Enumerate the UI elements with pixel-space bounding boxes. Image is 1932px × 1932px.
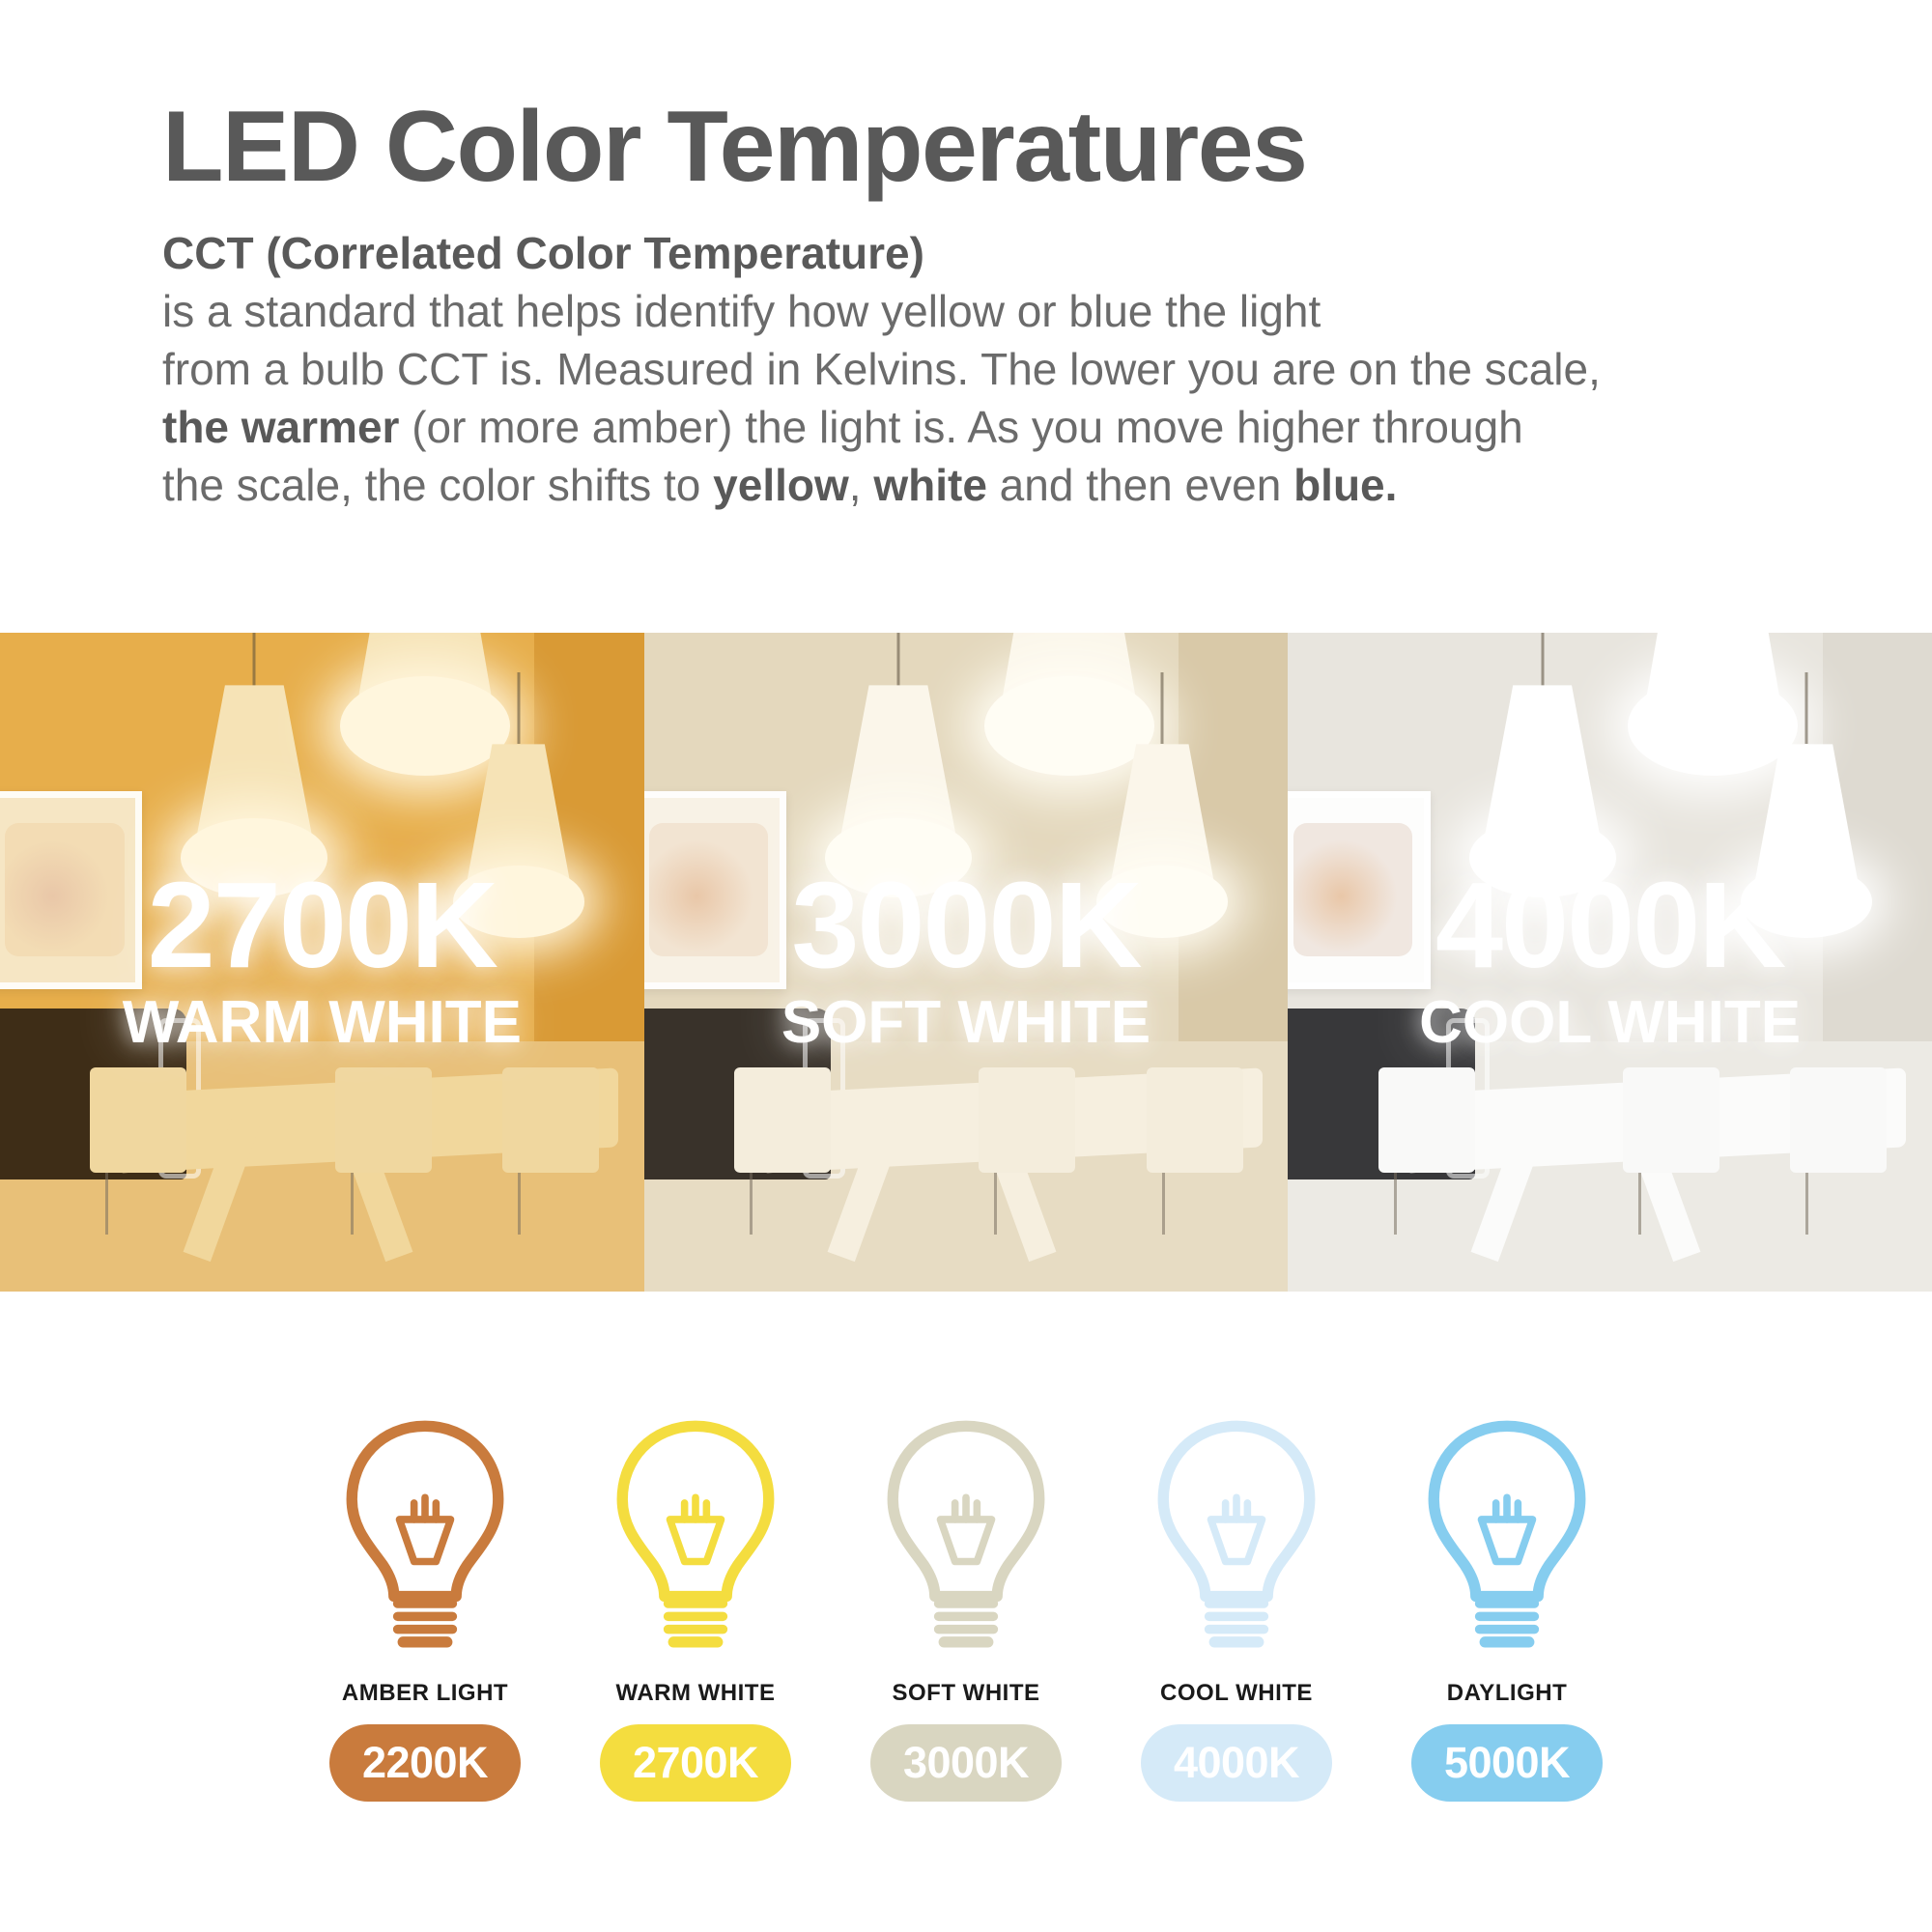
wall-picture-frame	[1288, 791, 1430, 989]
intro-line: is a standard that helps identify how ye…	[162, 282, 1747, 340]
page-title: LED Color Temperatures	[162, 97, 1932, 197]
intro-emphasis: CCT (Correlated Color Temperature)	[162, 228, 924, 278]
framed-photo	[1293, 823, 1412, 955]
kelvin-badge[interactable]: 4000K	[1141, 1724, 1332, 1802]
lamp-glow	[825, 818, 972, 897]
lightbulb-icon	[1415, 1415, 1599, 1657]
room-chair	[734, 1067, 831, 1173]
intro-line: the scale, the color shifts to yellow, w…	[162, 456, 1747, 514]
lamp-glow	[1096, 866, 1228, 937]
pendant-lamp	[1751, 672, 1861, 949]
intro-text: is a standard that helps identify how ye…	[162, 286, 1321, 336]
kelvin-scale-row: AMBER LIGHT 2200K WARM WHITE 2700K SOFT …	[0, 1406, 1932, 1802]
room-chair	[1378, 1067, 1475, 1173]
pendant-lamp	[193, 633, 316, 909]
lamp-cord	[1804, 672, 1807, 744]
pendant-lamp	[1481, 633, 1604, 909]
bulb-label: DAYLIGHT	[1447, 1680, 1567, 1707]
kelvin-badge[interactable]: 2700K	[600, 1724, 791, 1802]
intro-text: ,	[849, 460, 874, 510]
room-chair	[335, 1067, 432, 1173]
intro-text: the scale, the color shifts to	[162, 460, 713, 510]
header-section: LED Color Temperatures CCT (Correlated C…	[0, 0, 1932, 514]
lightbulb-icon	[333, 1415, 517, 1657]
lightbulb-icon	[1145, 1415, 1328, 1657]
scale-item-2700k[interactable]: WARM WHITE 2700K	[560, 1406, 831, 1802]
intro-text: and then even	[987, 460, 1293, 510]
lamp-cord	[1161, 672, 1164, 744]
bulb-label: COOL WHITE	[1160, 1680, 1313, 1707]
scale-item-3000k[interactable]: SOFT WHITE 3000K	[831, 1406, 1101, 1802]
framed-photo	[649, 823, 768, 955]
intro-emphasis: yellow	[713, 460, 849, 510]
bulb-label: AMBER LIGHT	[342, 1680, 508, 1707]
room-chair	[979, 1067, 1075, 1173]
bulb-icon-wrap	[333, 1406, 517, 1666]
lamp-glow	[453, 866, 584, 937]
wall-picture-frame	[0, 791, 142, 989]
room-chair	[1147, 1067, 1243, 1173]
intro-emphasis: the warmer	[162, 402, 399, 452]
room-chair	[1790, 1067, 1887, 1173]
intro-paragraph: CCT (Correlated Color Temperature)is a s…	[162, 224, 1747, 514]
scale-item-4000k[interactable]: COOL WHITE 4000K	[1101, 1406, 1372, 1802]
bulb-icon-wrap	[604, 1406, 787, 1666]
pendant-lamp	[464, 672, 573, 949]
kelvin-badge[interactable]: 5000K	[1411, 1724, 1603, 1802]
lamp-glow	[181, 818, 327, 897]
intro-line: from a bulb CCT is. Measured in Kelvins.…	[162, 340, 1747, 398]
photo-panel-4000k: 4000K COOL WHITE	[1288, 633, 1932, 1292]
kelvin-badge[interactable]: 3000K	[870, 1724, 1062, 1802]
intro-text: (or more amber) the light is. As you mov…	[399, 402, 1522, 452]
lightbulb-icon	[604, 1415, 787, 1657]
photo-panel-3000k: 3000K SOFT WHITE	[644, 633, 1289, 1292]
intro-emphasis: white	[873, 460, 987, 510]
bulb-icon-wrap	[1415, 1406, 1599, 1666]
intro-text: from a bulb CCT is. Measured in Kelvins.…	[162, 344, 1601, 394]
intro-emphasis: blue.	[1293, 460, 1397, 510]
bulb-icon-wrap	[1145, 1406, 1328, 1666]
room-chair	[1623, 1067, 1719, 1173]
lamp-glow	[1741, 866, 1872, 937]
intro-line: the warmer (or more amber) the light is.…	[162, 398, 1747, 456]
scale-item-2200k[interactable]: AMBER LIGHT 2200K	[290, 1406, 560, 1802]
lamp-glow	[1469, 818, 1616, 897]
pendant-lamp	[1108, 672, 1217, 949]
pendant-lamp	[838, 633, 960, 909]
photo-comparison-strip: 2700K WARM WHITE	[0, 633, 1932, 1292]
intro-line: CCT (Correlated Color Temperature)	[162, 224, 1747, 282]
lamp-cord	[517, 672, 520, 744]
wall-picture-frame	[644, 791, 786, 989]
bulb-label: WARM WHITE	[616, 1680, 776, 1707]
kelvin-badge[interactable]: 2200K	[329, 1724, 521, 1802]
framed-photo	[5, 823, 124, 955]
room-chair	[90, 1067, 186, 1173]
lightbulb-icon	[874, 1415, 1058, 1657]
room-chair	[502, 1067, 599, 1173]
scale-item-5000k[interactable]: DAYLIGHT 5000K	[1372, 1406, 1642, 1802]
photo-panel-2700k: 2700K WARM WHITE	[0, 633, 644, 1292]
bulb-label: SOFT WHITE	[893, 1680, 1040, 1707]
bulb-icon-wrap	[874, 1406, 1058, 1666]
